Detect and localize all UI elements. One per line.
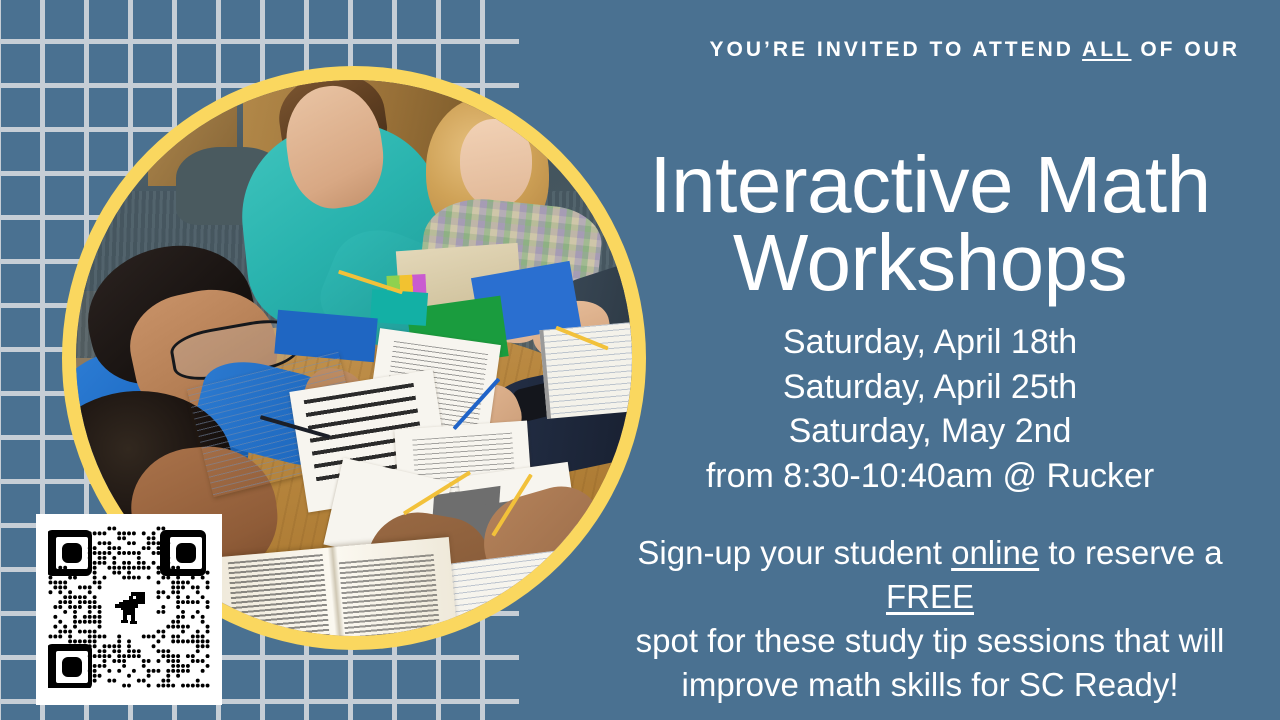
session-dates: Saturday, April 18th Saturday, April 25t… (600, 320, 1260, 498)
blurb-emphasis-free: FREE (886, 578, 974, 615)
blurb-link-online[interactable]: online (951, 534, 1039, 571)
photo-textbook-left-text (227, 554, 330, 636)
eyebrow-text-before: YOU’RE INVITED TO ATTEND (710, 38, 1083, 61)
title-line-1: Interactive Math (600, 146, 1260, 224)
qr-code[interactable] (36, 514, 222, 705)
eyebrow-heading: YOU’RE INVITED TO ATTEND ALL OF OUR (600, 38, 1240, 61)
photo-student-curlyhair-face (460, 119, 532, 208)
title-line-2: Workshops (600, 224, 1260, 302)
blurb-line-2: spot for these study tip sessions that w… (610, 619, 1250, 663)
dinosaur-glyph (109, 590, 149, 624)
photo-textbook-right-text (339, 554, 442, 636)
blurb-line-1: Sign-up your student online to reserve a… (610, 531, 1250, 619)
date-line-1: Saturday, April 18th (600, 320, 1260, 365)
date-line-3: Saturday, May 2nd (600, 409, 1260, 454)
blurb-seg-1: Sign-up your student (637, 534, 951, 571)
flyer-canvas: YOU’RE INVITED TO ATTEND ALL OF OUR Inte… (0, 0, 1280, 720)
eyebrow-emphasis: ALL (1082, 38, 1131, 61)
text-column: YOU’RE INVITED TO ATTEND ALL OF OUR Inte… (600, 0, 1260, 720)
eyebrow-text-after: OF OUR (1132, 38, 1241, 61)
page-title: Interactive Math Workshops (600, 146, 1260, 303)
time-location-line: from 8:30-10:40am @ Rucker (600, 454, 1260, 499)
dinosaur-icon (104, 582, 154, 632)
blurb-line-3: improve math skills for SC Ready! (610, 663, 1250, 707)
blurb-seg-2: to reserve a (1039, 534, 1222, 571)
photo-teal-folder (370, 289, 428, 326)
signup-description: Sign-up your student online to reserve a… (610, 531, 1250, 707)
qr-code-matrix (48, 526, 210, 688)
date-line-2: Saturday, April 25th (600, 365, 1260, 410)
